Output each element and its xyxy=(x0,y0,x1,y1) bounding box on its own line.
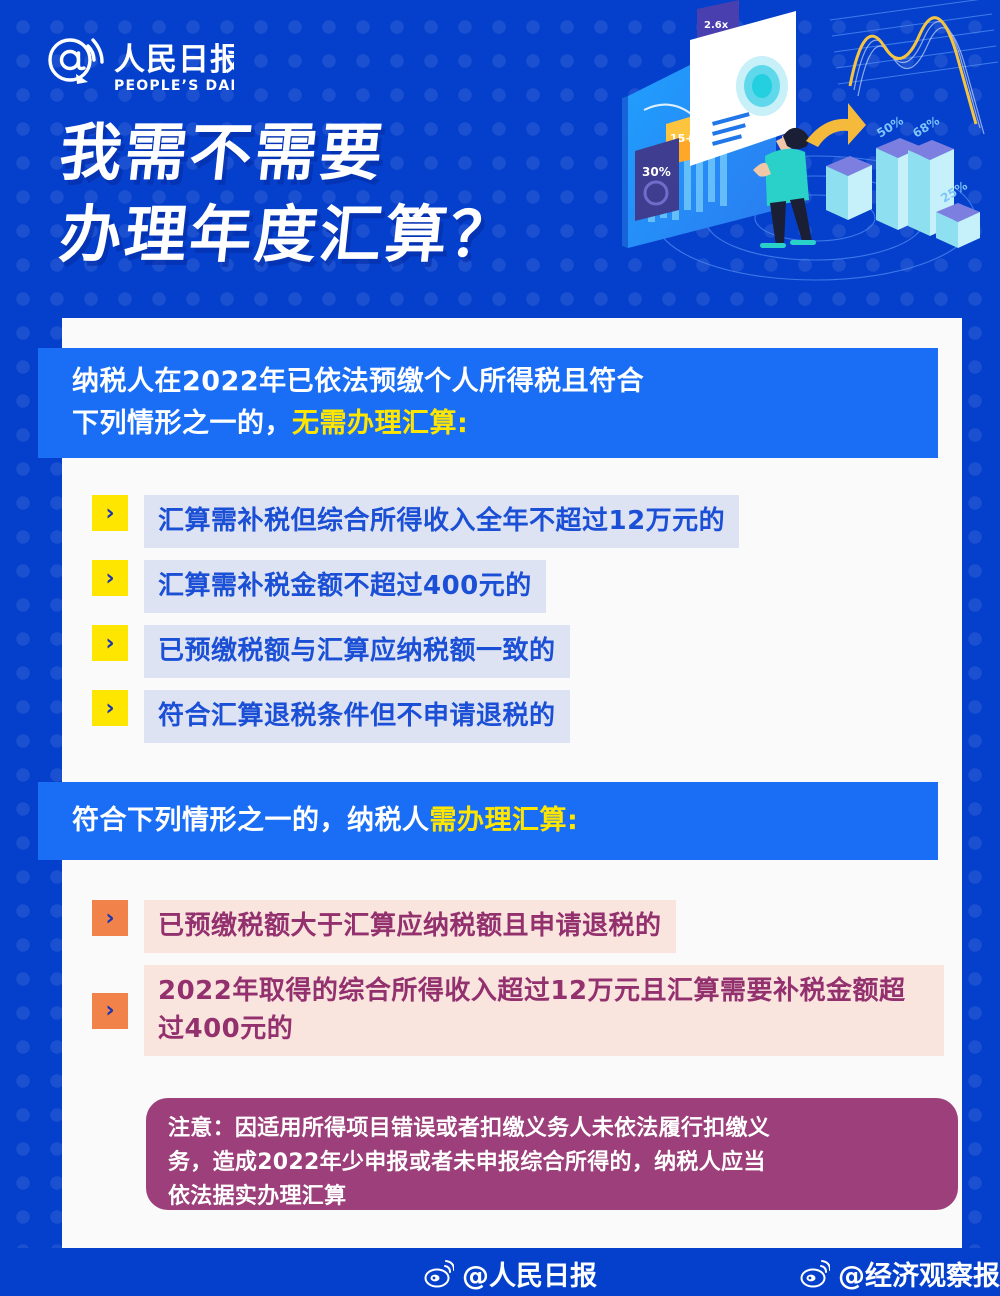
list-item-label: 汇算需补税金额不超过400元的 xyxy=(144,560,546,613)
list-item-label: 汇算需补税但综合所得收入全年不超过12万元的 xyxy=(144,495,739,548)
weibo-handle-right[interactable]: @经济观察报 xyxy=(800,1254,1000,1293)
section-header-no-need: 纳税人在2022年已依法预缴个人所得税且符合 下列情形之一的，无需办理汇算: xyxy=(38,348,938,458)
list-item[interactable]: › 符合汇算退税条件但不申请退税的 xyxy=(92,690,570,743)
section1-header-line2-prefix: 下列情形之一的， xyxy=(72,408,292,439)
section2-header: 符合下列情形之一的，纳税人需办理汇算: xyxy=(38,800,578,842)
illus-label-50pct: 50% xyxy=(874,113,906,140)
illus-label-2-6x: 2.6x xyxy=(704,20,729,31)
list-item[interactable]: › 汇算需补税金额不超过400元的 xyxy=(92,560,546,613)
list-item-label: 已预缴税额与汇算应纳税额一致的 xyxy=(144,625,570,678)
list-item-label: 符合汇算退税条件但不申请退税的 xyxy=(144,690,570,743)
poster-root: 人民日报 PEOPLE’S DAILY 我需不需要 办理年度汇算？ xyxy=(0,0,1000,1295)
note-line-3: 依法据实办理汇算 xyxy=(168,1180,936,1214)
list-item[interactable]: › 2022年取得的综合所得收入超过12万元且汇算需要补税金额超过400元的 xyxy=(92,965,944,1056)
page-title: 我需不需要 办理年度汇算？ xyxy=(60,112,680,276)
title-line-2: 办理年度汇算？ xyxy=(56,194,685,276)
peoples-daily-logo: 人民日报 PEOPLE’S DAILY xyxy=(44,34,234,96)
title-line-1: 我需不需要 xyxy=(56,112,685,194)
section1-header-line1: 纳税人在2022年已依法预缴个人所得税且符合 xyxy=(38,361,644,403)
chevron-right-icon: › xyxy=(92,900,128,936)
weibo-icon xyxy=(424,1259,454,1289)
chevron-right-icon: › xyxy=(92,560,128,596)
chevron-right-icon: › xyxy=(92,690,128,726)
section2-header-prefix: 符合下列情形之一的，纳税人 xyxy=(72,805,430,836)
chevron-right-icon: › xyxy=(92,993,128,1029)
note-line-1: 注意：因适用所得项目错误或者扣缴义务人未依法履行扣缴义 xyxy=(168,1112,936,1146)
note-box: 注意：因适用所得项目错误或者扣缴义务人未依法履行扣缴义 务，造成2022年少申报… xyxy=(146,1098,958,1210)
list-item[interactable]: › 汇算需补税但综合所得收入全年不超过12万元的 xyxy=(92,495,739,548)
chevron-right-icon: › xyxy=(92,495,128,531)
list-item-label: 2022年取得的综合所得收入超过12万元且汇算需要补税金额超过400元的 xyxy=(144,965,944,1056)
illus-label-30pct: 30% xyxy=(642,165,671,179)
svg-text:人民日报: 人民日报 xyxy=(114,42,234,78)
list-item[interactable]: › 已预缴税额大于汇算应纳税额且申请退税的 xyxy=(92,900,676,953)
weibo-handle-left-label: @人民日报 xyxy=(462,1254,597,1293)
svg-text:PEOPLE’S DAILY: PEOPLE’S DAILY xyxy=(114,78,234,94)
section1-header-highlight: 无需办理汇算: xyxy=(292,408,468,439)
note-line-2: 务，造成2022年少申报或者未申报综合所得的，纳税人应当 xyxy=(168,1146,936,1180)
footer-bar: @人民日报 @经济观察报 xyxy=(0,1248,1000,1295)
list-item-label: 已预缴税额大于汇算应纳税额且申请退税的 xyxy=(144,900,676,953)
chevron-right-icon: › xyxy=(92,625,128,661)
illus-label-68pct: 68% xyxy=(910,113,942,140)
section2-header-highlight: 需办理汇算: xyxy=(430,805,579,836)
data-analytics-illustration: 2.6x 15+ 30% xyxy=(600,0,1000,300)
weibo-handle-right-label: @经济观察报 xyxy=(838,1254,1000,1293)
weibo-icon xyxy=(800,1259,830,1289)
weibo-handle-left[interactable]: @人民日报 xyxy=(424,1254,597,1293)
list-item[interactable]: › 已预缴税额与汇算应纳税额一致的 xyxy=(92,625,570,678)
section-header-need: 符合下列情形之一的，纳税人需办理汇算: xyxy=(38,782,938,860)
hero-section: 人民日报 PEOPLE’S DAILY 我需不需要 办理年度汇算？ xyxy=(0,0,1000,325)
section1-header-line2: 下列情形之一的，无需办理汇算: xyxy=(38,403,644,445)
